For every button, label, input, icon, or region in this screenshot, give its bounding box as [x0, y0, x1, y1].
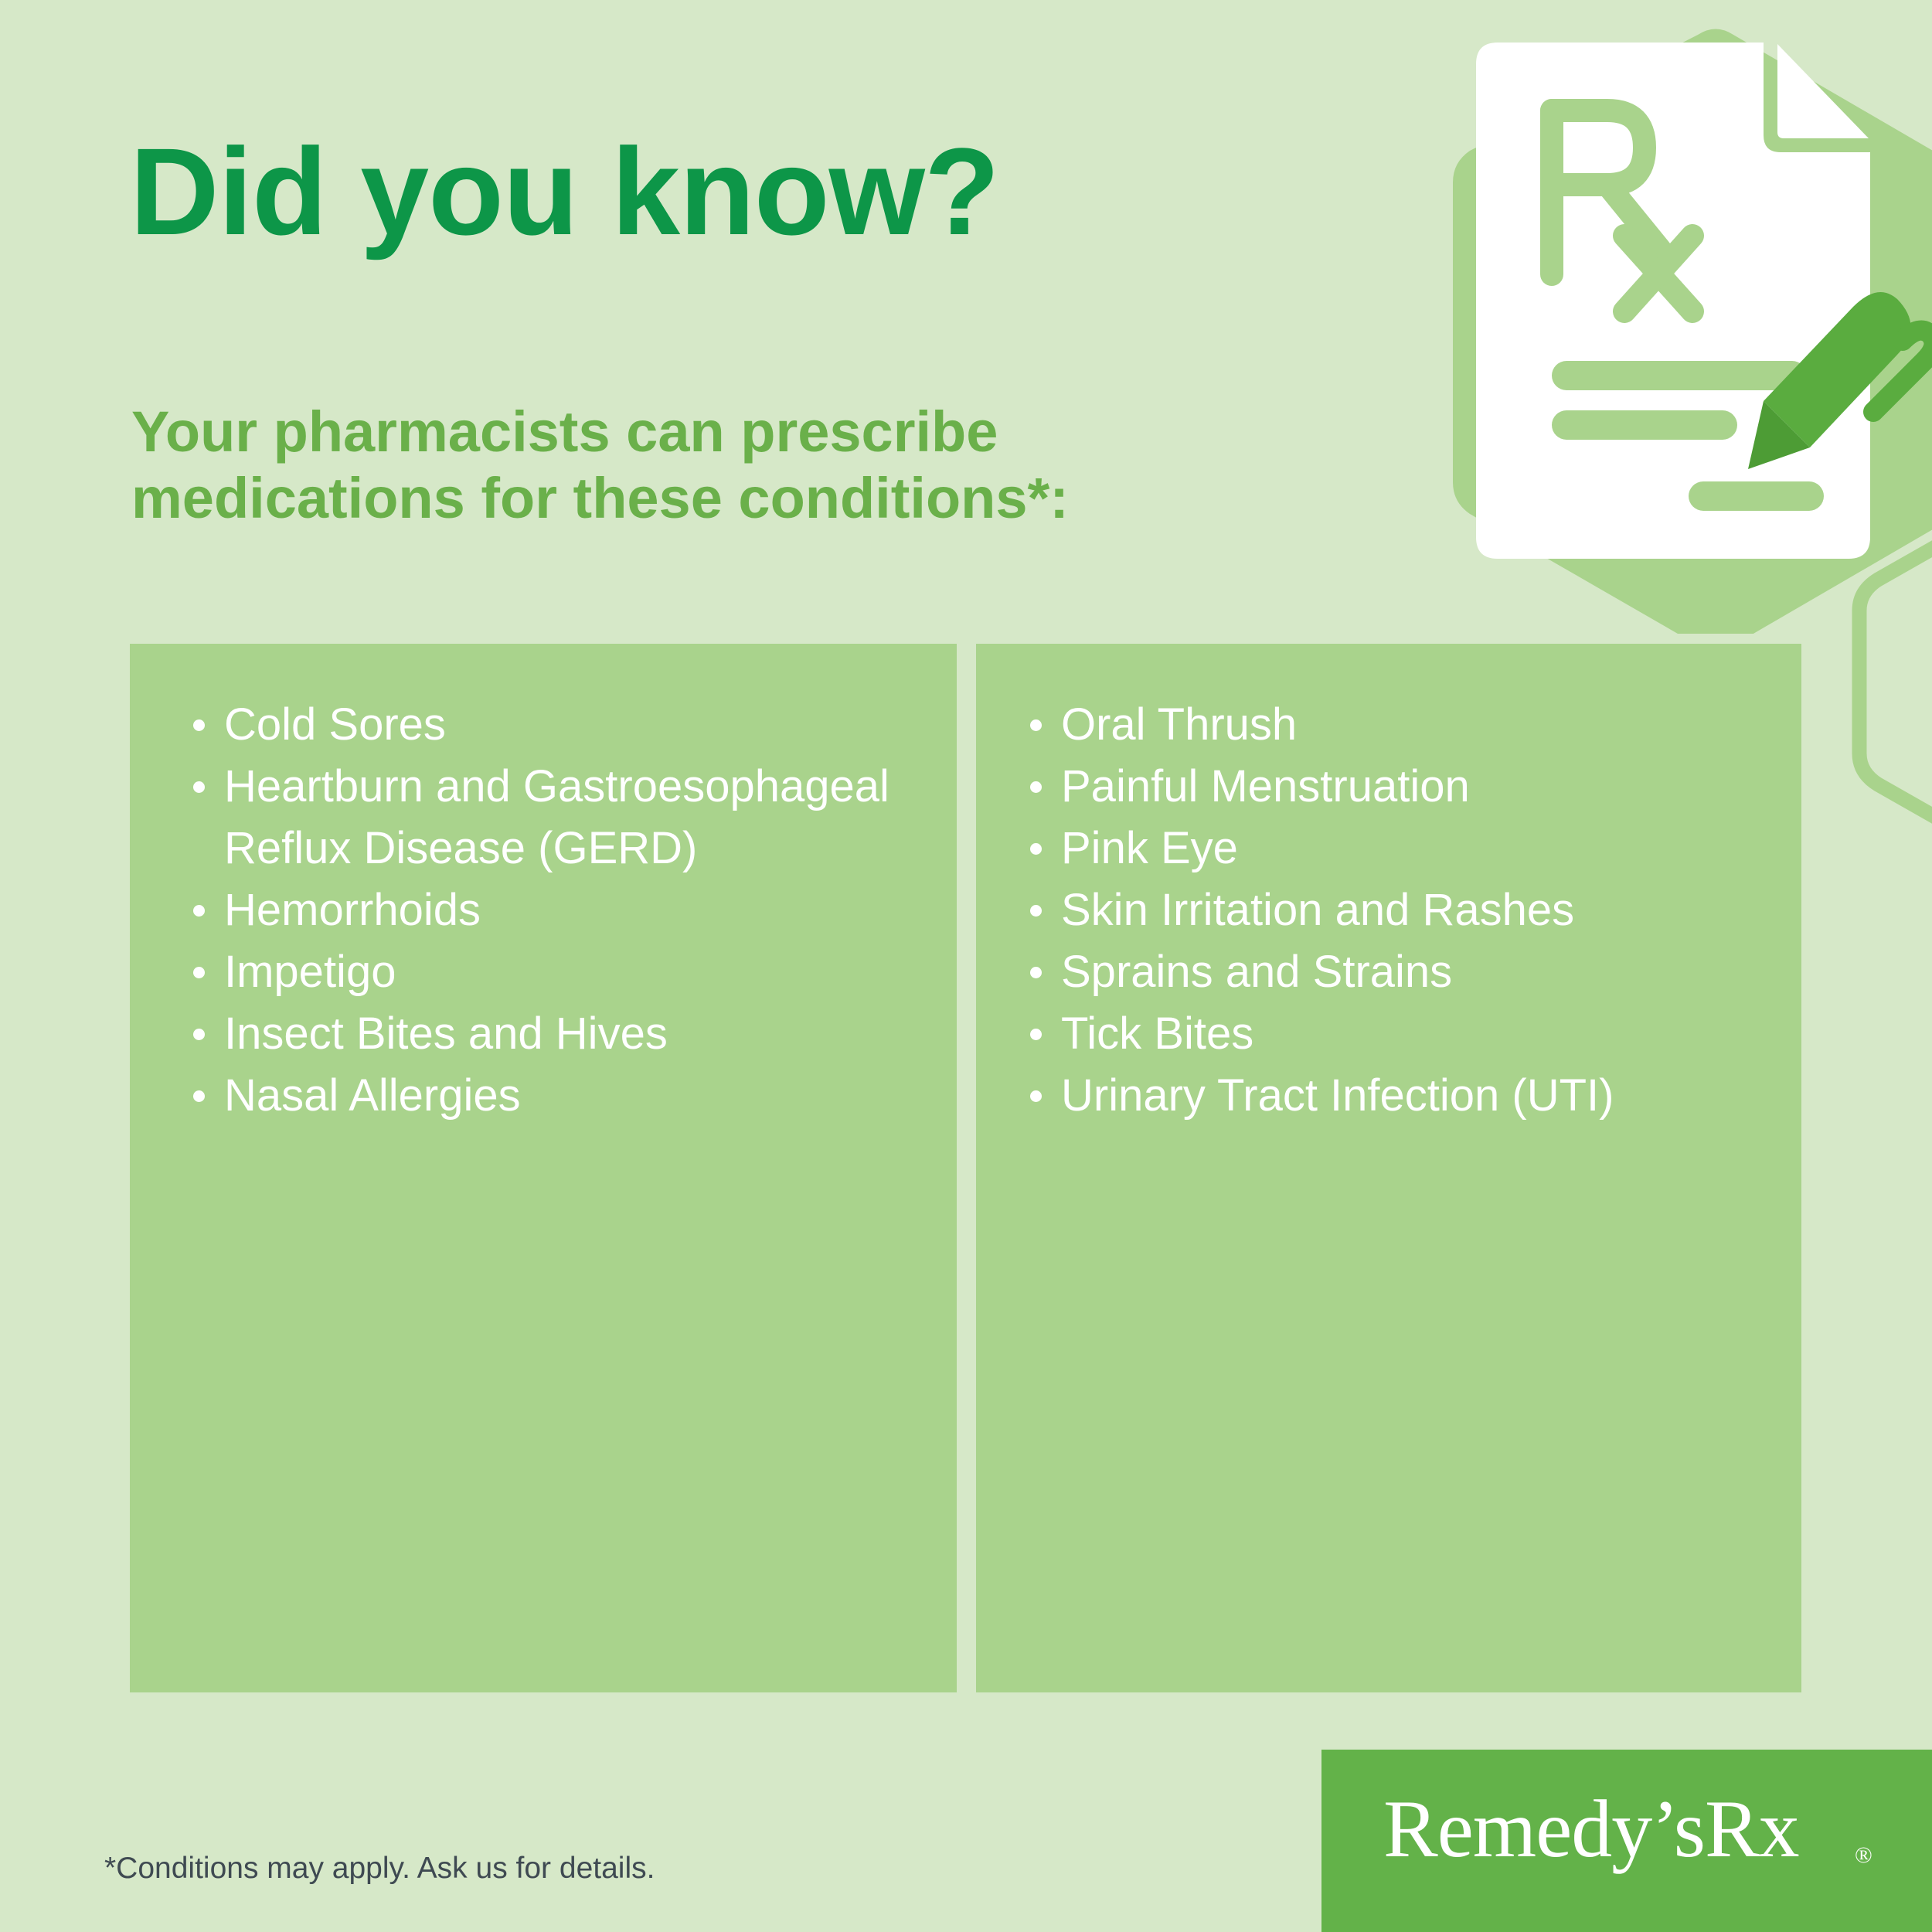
- bullet-icon: [1030, 905, 1042, 917]
- list-item: Hemorrhoids: [130, 879, 930, 941]
- list-item: Sprains and Strains: [976, 941, 1775, 1003]
- bullet-icon: [193, 1090, 205, 1102]
- registered-trademark-icon: ®: [1855, 1842, 1872, 1869]
- list-item: Skin Irritation and Rashes: [976, 879, 1775, 941]
- condition-label: Hemorrhoids: [224, 885, 481, 935]
- condition-label: Sprains and Strains: [1061, 947, 1452, 997]
- conditions-panel-right: Oral Thrush Painful Menstruation Pink Ey…: [976, 644, 1801, 1692]
- brand-wordmark: Remedy’sRx: [1383, 1788, 1799, 1870]
- poster-canvas: Did you know? Your pharmacists can presc…: [0, 0, 1932, 1932]
- footnote-disclaimer: *Conditions may apply. Ask us for detail…: [104, 1852, 655, 1886]
- list-item: Tick Bites: [976, 1003, 1775, 1065]
- subtitle-line-2: medications for these conditions*:: [131, 465, 1069, 532]
- rx-prescription-pen-icon: [1461, 27, 1932, 614]
- list-item: Oral Thrush: [976, 694, 1775, 756]
- bullet-icon: [1030, 1090, 1042, 1102]
- condition-label: Cold Sores: [224, 699, 446, 750]
- bullet-icon: [1030, 843, 1042, 855]
- list-item: Cold Sores: [130, 694, 930, 756]
- page-subtitle: Your pharmacists can prescribe medicatio…: [131, 399, 1069, 532]
- list-item: Urinary Tract Infection (UTI): [976, 1065, 1775, 1127]
- condition-label: Impetigo: [224, 947, 396, 997]
- bullet-icon: [193, 905, 205, 917]
- condition-label: Urinary Tract Infection (UTI): [1061, 1070, 1614, 1121]
- condition-label: Skin Irritation and Rashes: [1061, 885, 1574, 935]
- bullet-icon: [1030, 1029, 1042, 1040]
- bullet-icon: [193, 719, 205, 731]
- condition-label: Painful Menstruation: [1061, 761, 1470, 811]
- subtitle-line-1: Your pharmacists can prescribe: [131, 399, 1069, 465]
- condition-label: Oral Thrush: [1061, 699, 1297, 750]
- signature-line: [1689, 481, 1824, 511]
- condition-label: Nasal Allergies: [224, 1070, 521, 1121]
- brand-logo: Remedy’sRx ®: [1321, 1750, 1932, 1932]
- condition-label: Tick Bites: [1061, 1009, 1253, 1059]
- list-item: Nasal Allergies: [130, 1065, 930, 1127]
- paper-line-2: [1552, 410, 1737, 440]
- bullet-icon: [1030, 967, 1042, 978]
- bullet-icon: [1030, 781, 1042, 793]
- conditions-list-left: Cold Sores Heartburn and Gastroesophagea…: [130, 694, 930, 1127]
- conditions-panel-left: Cold Sores Heartburn and Gastroesophagea…: [130, 644, 957, 1692]
- bullet-icon: [193, 967, 205, 978]
- list-item: Heartburn and Gastroesophageal Reflux Di…: [130, 756, 930, 879]
- paper-line-1: [1552, 361, 1807, 390]
- condition-label: Pink Eye: [1061, 823, 1238, 873]
- condition-label: Heartburn and Gastroesophageal Reflux Di…: [224, 761, 889, 873]
- page-title: Did you know?: [130, 130, 999, 253]
- list-item: Painful Menstruation: [976, 756, 1775, 818]
- bullet-icon: [193, 781, 205, 793]
- list-item: Pink Eye: [976, 818, 1775, 879]
- bullet-icon: [193, 1029, 205, 1040]
- list-item: Impetigo: [130, 941, 930, 1003]
- conditions-list-right: Oral Thrush Painful Menstruation Pink Ey…: [976, 694, 1775, 1127]
- condition-label: Insect Bites and Hives: [224, 1009, 668, 1059]
- bullet-icon: [1030, 719, 1042, 731]
- list-item: Insect Bites and Hives: [130, 1003, 930, 1065]
